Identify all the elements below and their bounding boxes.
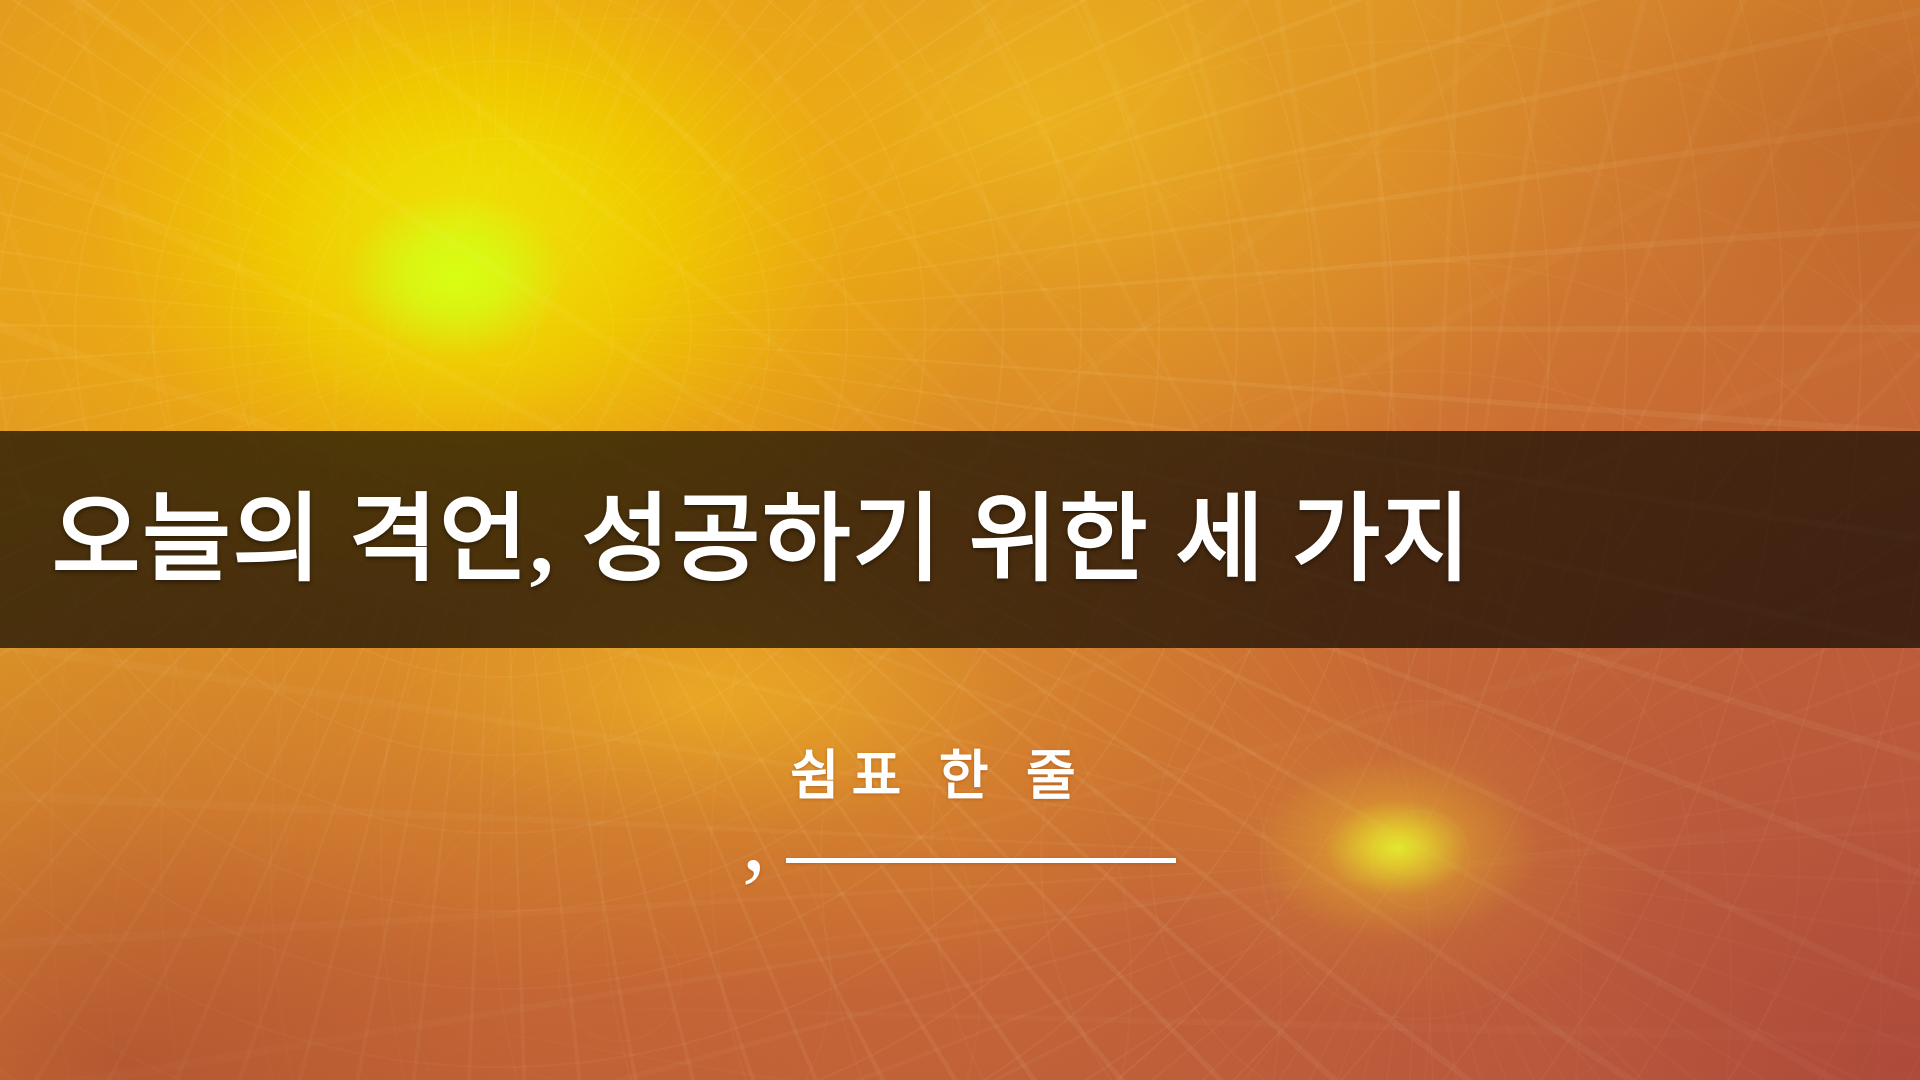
title-banner: 오늘의 격언, 성공하기 위한 세 가지	[0, 431, 1920, 648]
comma-icon: ,	[742, 790, 766, 886]
brand-wordmark: 쉼표 한 줄	[790, 748, 1088, 805]
brand-logo: , 쉼표 한 줄	[742, 748, 1182, 898]
page-title: 오늘의 격언, 성공하기 위한 세 가지	[52, 492, 1472, 588]
slide-canvas: 오늘의 격언, 성공하기 위한 세 가지 , 쉼표 한 줄	[0, 0, 1920, 1080]
logo-underline-rule	[786, 858, 1176, 863]
